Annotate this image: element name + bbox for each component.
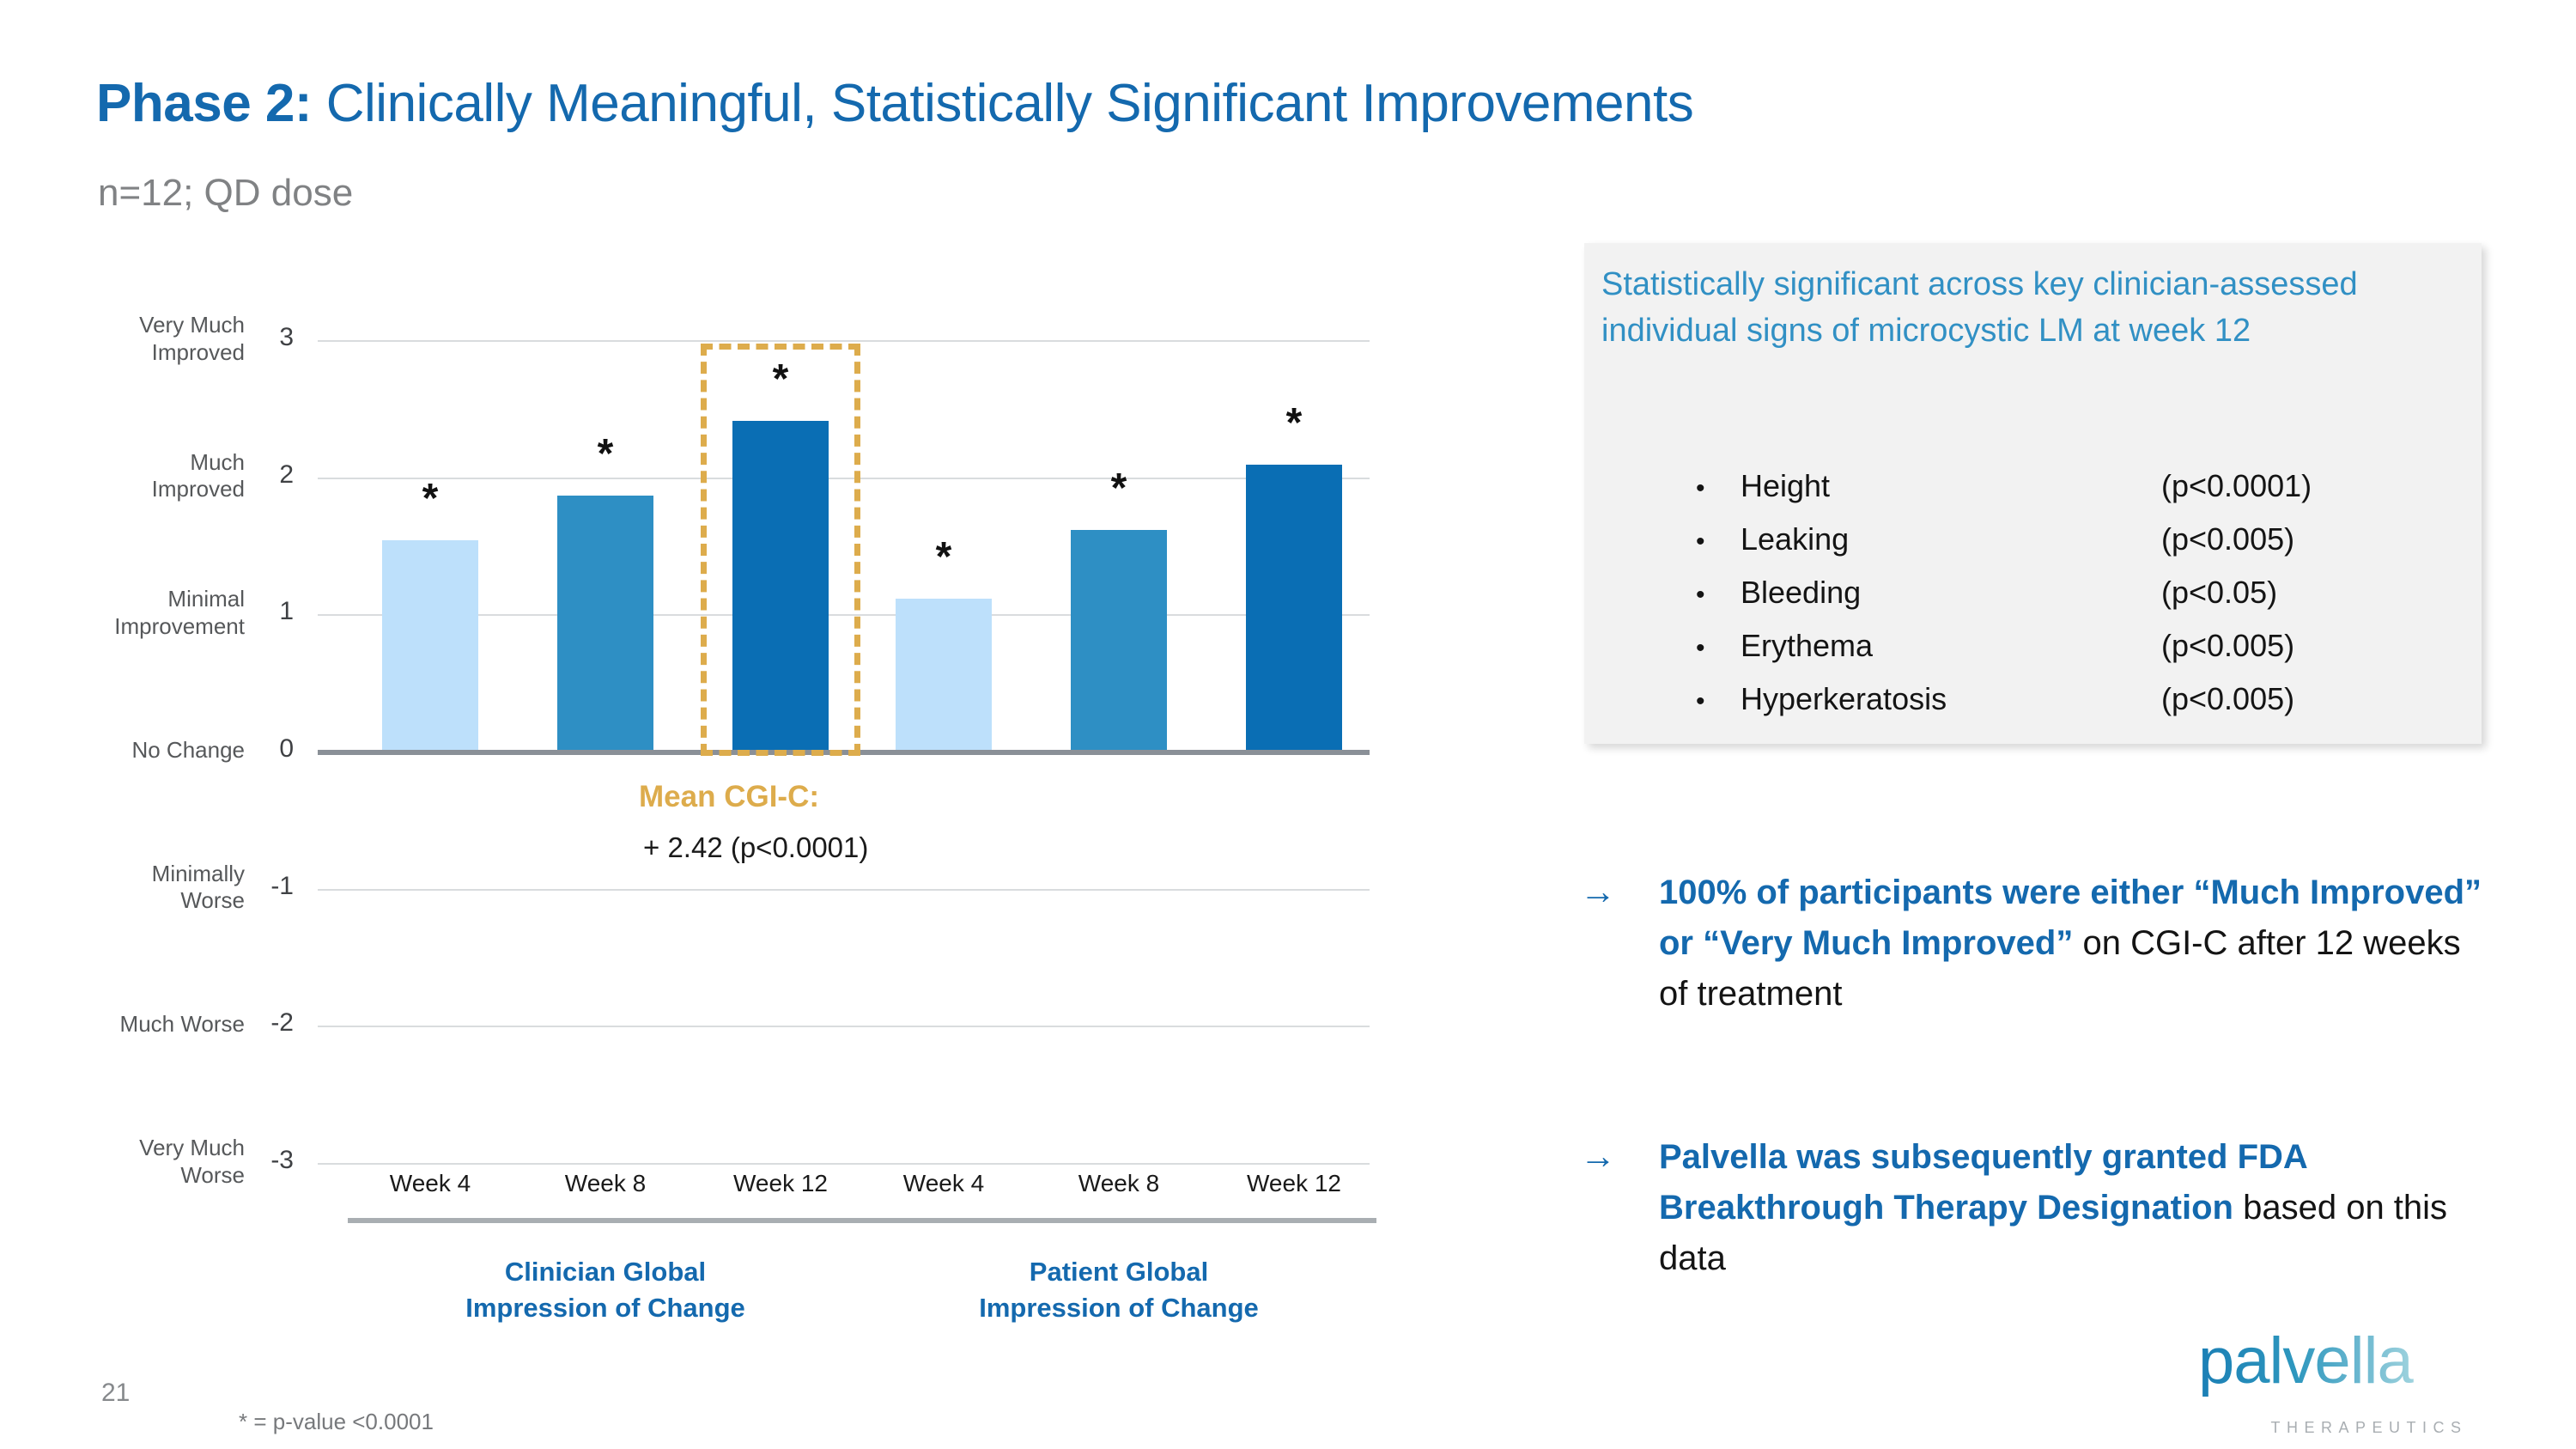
y-category-label-0: No Change xyxy=(30,737,245,764)
group-divider-rule xyxy=(861,1218,1376,1223)
bullet-icon: • xyxy=(1696,476,1741,502)
gridline--1 xyxy=(318,889,1370,891)
page-number: 21 xyxy=(101,1379,130,1408)
y-category-label--2: Much Worse xyxy=(30,1011,245,1038)
y-category-label--1: MinimallyWorse xyxy=(30,861,245,915)
significance-asterisk: * xyxy=(918,537,969,578)
statistic-sign-name: Hyperkeratosis xyxy=(1741,684,2161,715)
bullet-icon: • xyxy=(1696,689,1741,715)
x-axis-week-label: Week 4 xyxy=(353,1170,507,1197)
x-axis-week-label: Week 4 xyxy=(866,1170,1021,1197)
gridline--2 xyxy=(318,1026,1370,1027)
y-tick--3: -3 xyxy=(258,1146,294,1175)
chart-plot-area: 3Very MuchImproved2MuchImproved1MinimalI… xyxy=(0,0,1460,1374)
chart-footnote: * = p-value <0.0001 xyxy=(239,1409,434,1435)
statistic-sign-name: Leaking xyxy=(1741,524,2161,555)
statistic-sign-name: Bleeding xyxy=(1741,577,2161,608)
statistic-p-value: (p<0.0001) xyxy=(2161,471,2312,502)
statistics-list-item: •Bleeding(p<0.05) xyxy=(1696,577,2469,608)
x-axis-week-label: Week 8 xyxy=(528,1170,683,1197)
palvella-logo: palvella THERAPEUTICS xyxy=(2198,1330,2507,1433)
group-label-patient: Patient GlobalImpression of Change xyxy=(861,1254,1376,1326)
mean-cgic-label: Mean CGI-C: xyxy=(639,780,819,814)
statistic-p-value: (p<0.05) xyxy=(2161,577,2277,608)
statistic-p-value: (p<0.005) xyxy=(2161,630,2294,661)
group-label-clinician: Clinician GlobalImpression of Change xyxy=(348,1254,863,1326)
x-axis-week-label: Week 12 xyxy=(703,1170,858,1197)
arrow-right-icon: → xyxy=(1580,1135,1616,1177)
significance-asterisk: * xyxy=(404,478,456,520)
arrow-right-icon: → xyxy=(1580,871,1616,912)
bullet-icon: • xyxy=(1696,636,1741,661)
callout-bold-lead: Palvella was subsequently granted FDA Br… xyxy=(1659,1138,2306,1227)
y-category-label-2: MuchImproved xyxy=(30,449,245,503)
bar-clinician-week-4 xyxy=(382,540,478,750)
statistic-sign-name: Height xyxy=(1741,471,2161,502)
significance-asterisk: * xyxy=(580,434,631,475)
callout-text: 100% of participants were either “Much I… xyxy=(1659,868,2490,1019)
x-axis-week-label: Week 8 xyxy=(1042,1170,1196,1197)
significance-asterisk: * xyxy=(1093,468,1145,509)
y-tick-0: 0 xyxy=(258,734,294,764)
y-tick-1: 1 xyxy=(258,597,294,626)
callout-item: →100% of participants were either “Much … xyxy=(1580,868,2490,1019)
statistics-list-item: •Leaking(p<0.005) xyxy=(1696,524,2469,555)
bullet-icon: • xyxy=(1696,529,1741,555)
mean-cgic-value: + 2.42 (p<0.0001) xyxy=(643,831,868,864)
statistic-sign-name: Erythema xyxy=(1741,630,2161,661)
statistics-list-item: •Erythema(p<0.005) xyxy=(1696,630,2469,661)
x-axis-week-label: Week 12 xyxy=(1217,1170,1371,1197)
statistic-p-value: (p<0.005) xyxy=(2161,524,2294,555)
bar-clinician-week-8 xyxy=(557,496,653,750)
week12-highlight-box xyxy=(701,344,860,756)
callout-text: Palvella was subsequently granted FDA Br… xyxy=(1659,1132,2490,1283)
bullet-icon: • xyxy=(1696,582,1741,608)
logo-wordmark-svg: palvella xyxy=(2198,1330,2507,1403)
y-tick-3: 3 xyxy=(258,323,294,352)
group-divider-rule xyxy=(348,1218,863,1223)
gridline--3 xyxy=(318,1163,1370,1165)
logo-wordmark: palvella xyxy=(2198,1330,2507,1414)
callout-item: →Palvella was subsequently granted FDA B… xyxy=(1580,1132,2490,1283)
y-tick-2: 2 xyxy=(258,460,294,490)
gridline-3 xyxy=(318,340,1370,342)
logo-tagline: THERAPEUTICS xyxy=(2198,1419,2507,1437)
y-tick--2: -2 xyxy=(258,1008,294,1038)
y-category-label--3: Very MuchWorse xyxy=(30,1135,245,1189)
significance-asterisk: * xyxy=(1268,403,1320,444)
statistics-list: •Height(p<0.0001)•Leaking(p<0.005)•Bleed… xyxy=(1696,471,2469,737)
y-category-label-1: MinimalImprovement xyxy=(30,586,245,640)
bar-patient-week-4 xyxy=(896,599,992,750)
y-tick--1: -1 xyxy=(258,872,294,901)
statistics-list-item: •Hyperkeratosis(p<0.005) xyxy=(1696,684,2469,715)
svg-text:palvella: palvella xyxy=(2198,1330,2414,1397)
statistics-panel-heading: Statistically significant across key cli… xyxy=(1601,262,2469,355)
statistic-p-value: (p<0.005) xyxy=(2161,684,2294,715)
y-category-label-3: Very MuchImproved xyxy=(30,312,245,366)
statistics-list-item: •Height(p<0.0001) xyxy=(1696,471,2469,502)
bar-patient-week-12 xyxy=(1246,465,1342,750)
bar-patient-week-8 xyxy=(1071,530,1167,750)
